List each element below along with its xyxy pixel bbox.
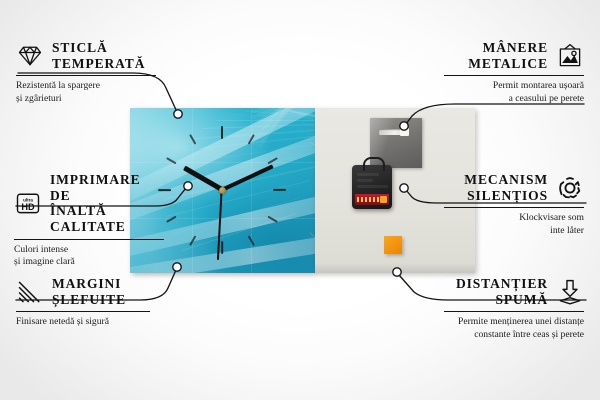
callout-tempered-glass: STICLĂ TEMPERATĂ Rezistentă la spargere … bbox=[16, 40, 156, 105]
callout-header: DISTANȚIER SPUMĂ bbox=[444, 276, 584, 307]
callout-description: Permite menținerea unei distanțe constan… bbox=[444, 316, 584, 341]
hanging-picture-frame-icon bbox=[556, 42, 584, 70]
callout-description: Permit montarea ușoară a ceasului pe per… bbox=[444, 80, 584, 105]
callout-metal-handles: MÂNERE METALICE Permit montarea ușoară a… bbox=[444, 40, 584, 105]
callout-header: ultra HD IMPRIMARE DE ÎNALTĂ CALITATE bbox=[14, 172, 164, 235]
ultra-hd-icon: ultra HD bbox=[14, 189, 42, 217]
ultra-hd-icon-main-text: HD bbox=[21, 202, 35, 212]
callout-title: DISTANȚIER SPUMĂ bbox=[456, 276, 548, 307]
callout-divider bbox=[444, 207, 584, 208]
callout-title: MÂNERE METALICE bbox=[468, 40, 548, 71]
callout-description: Rezistentă la spargere și zgârieturi bbox=[16, 80, 156, 105]
polished-edges-icon bbox=[16, 278, 44, 306]
callout-polished-edges: MARGINI ȘLEFUITE Finisare netedă și sigu… bbox=[16, 276, 150, 329]
callout-description: Finisare netedă și sigură bbox=[16, 316, 150, 328]
callout-title: IMPRIMARE DE ÎNALTĂ CALITATE bbox=[50, 172, 164, 235]
infographic-canvas: STICLĂ TEMPERATĂ Rezistentă la spargere … bbox=[0, 0, 600, 400]
callout-divider bbox=[16, 311, 150, 312]
callout-title: MARGINI ȘLEFUITE bbox=[52, 276, 126, 307]
diamond-icon bbox=[16, 42, 44, 70]
callout-header: STICLĂ TEMPERATĂ bbox=[16, 40, 156, 71]
callout-divider bbox=[444, 75, 584, 76]
gear-icon bbox=[556, 174, 584, 202]
callout-divider bbox=[444, 311, 584, 312]
callout-header: MARGINI ȘLEFUITE bbox=[16, 276, 150, 307]
callout-title: STICLĂ TEMPERATĂ bbox=[52, 40, 145, 71]
callout-header: MECANISM SILENȚIOS bbox=[444, 172, 584, 203]
callout-title: MECANISM SILENȚIOS bbox=[464, 172, 548, 203]
callout-foam-spacer: DISTANȚIER SPUMĂ Permite menținerea unei… bbox=[444, 276, 584, 341]
callout-header: MÂNERE METALICE bbox=[444, 40, 584, 71]
arrow-down-onto-pad-icon bbox=[556, 278, 584, 306]
callout-description: Culori intense și imagine clară bbox=[14, 244, 164, 269]
callout-silent-mechanism: MECANISM SILENȚIOS Klockvisare som inte … bbox=[444, 172, 584, 237]
callout-divider bbox=[14, 239, 164, 240]
callout-divider bbox=[16, 75, 156, 76]
callout-high-quality-print: ultra HD IMPRIMARE DE ÎNALTĂ CALITATE Cu… bbox=[14, 172, 164, 268]
callout-description: Klockvisare som inte låter bbox=[444, 212, 584, 237]
